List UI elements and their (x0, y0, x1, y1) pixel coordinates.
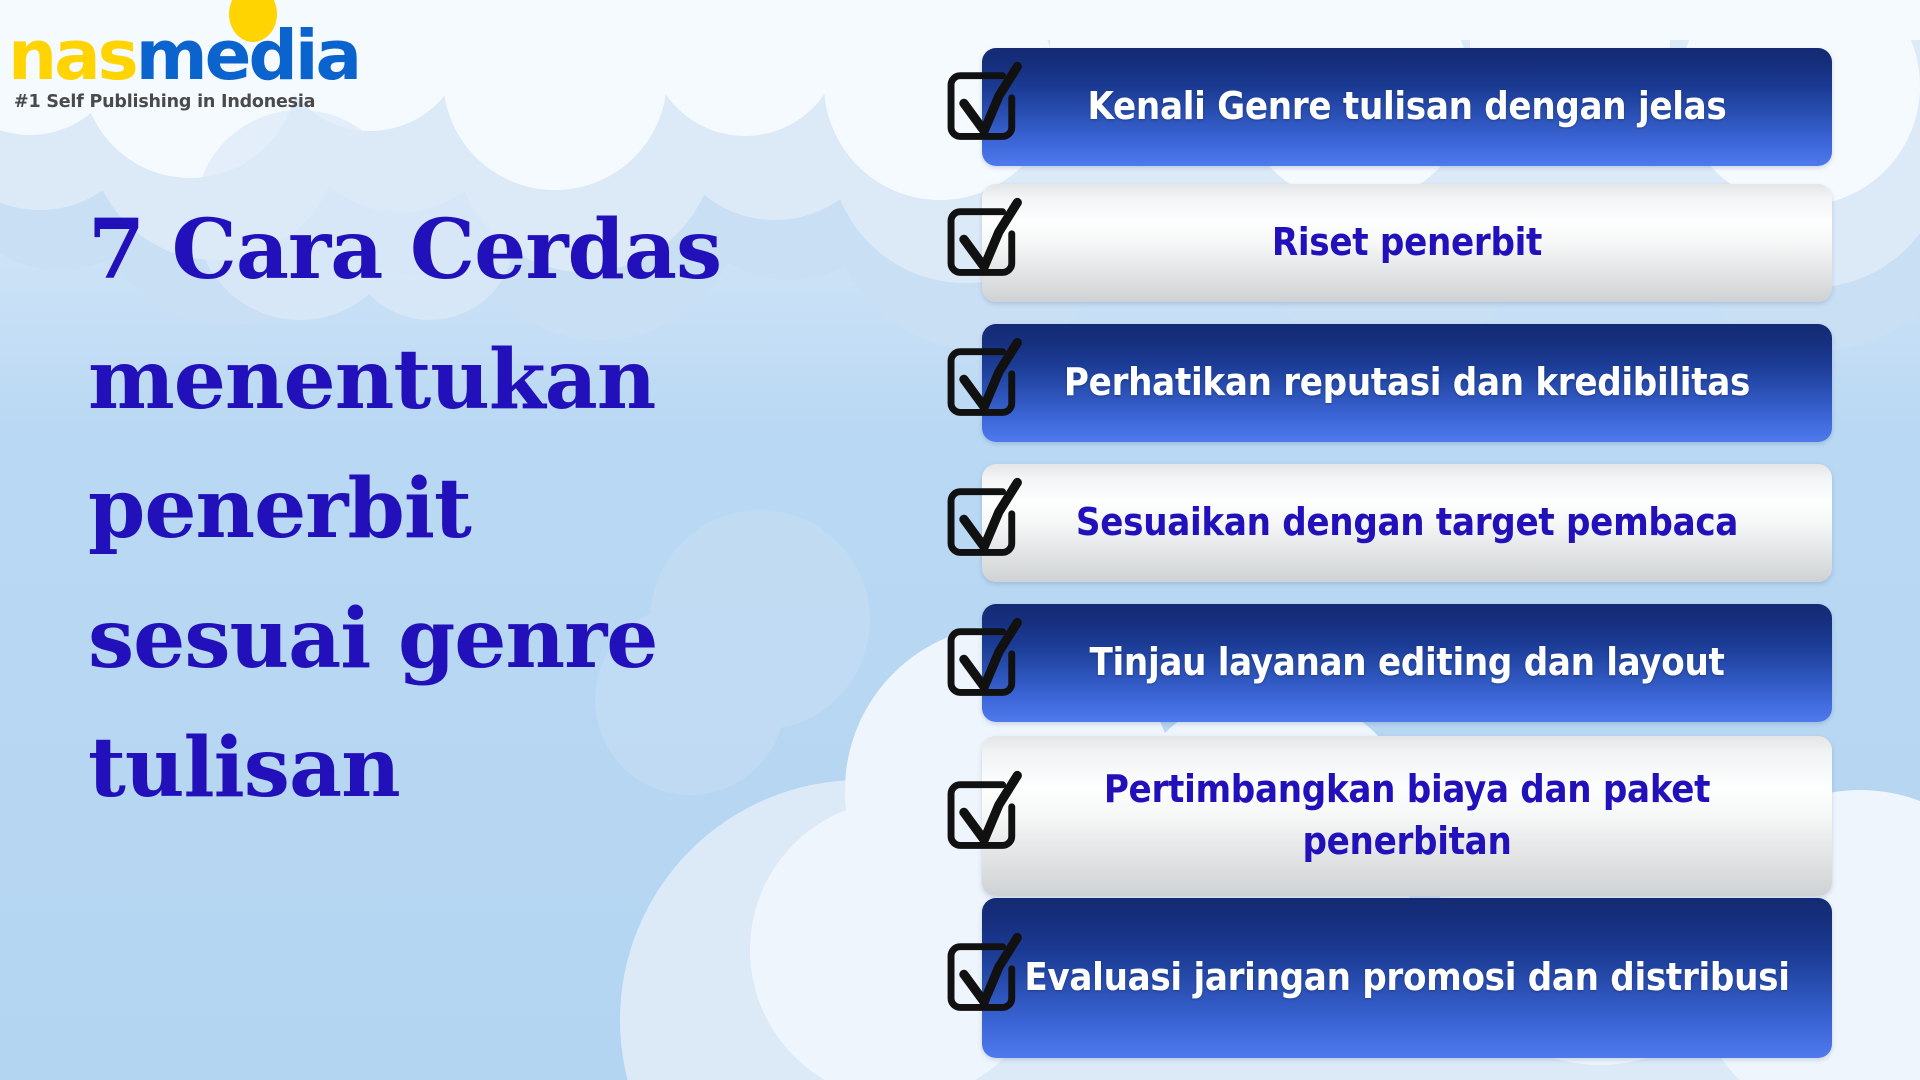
checklist-item-bar[interactable]: Riset penerbit (982, 184, 1832, 302)
checklist-item[interactable]: Perhatikan reputasi dan kredibilitas (940, 324, 1840, 442)
checklist-item[interactable]: Riset penerbit (940, 184, 1840, 302)
infographic-poster: nasmedia #1 Self Publishing in Indonesia… (0, 0, 1920, 1080)
headline-line-2: menentukan (88, 316, 738, 446)
checklist-item-label: Riset penerbit (1272, 217, 1542, 269)
logo-wordmark: nasmedia (8, 22, 308, 91)
checklist-item-bar[interactable]: Kenali Genre tulisan dengan jelas (982, 48, 1832, 166)
checklist-item-bar[interactable]: Sesuaikan dengan target pembaca (982, 464, 1832, 582)
checklist-item-label: Pertimbangkan biaya dan paket penerbitan (998, 764, 1816, 867)
checklist-item[interactable]: Tinjau layanan editing dan layout (940, 604, 1840, 722)
checklist-item[interactable]: Kenali Genre tulisan dengan jelas (940, 48, 1840, 166)
logo-text-nas: nas (8, 16, 136, 96)
headline-line-3: penerbit (88, 445, 738, 575)
checklist-item-bar[interactable]: Evaluasi jaringan promosi dan distribusi (982, 898, 1832, 1058)
checklist-item[interactable]: Pertimbangkan biaya dan paket penerbitan (940, 736, 1840, 896)
headline-line-5: tulisan (88, 704, 738, 834)
checklist-item-bar[interactable]: Tinjau layanan editing dan layout (982, 604, 1832, 722)
checklist-item-label: Perhatikan reputasi dan kredibilitas (1064, 357, 1750, 409)
checklist-item-label: Sesuaikan dengan target pembaca (1076, 497, 1738, 549)
checklist-item-label: Tinjau layanan editing dan layout (1089, 637, 1724, 689)
headline-line-1: 7 Cara Cerdas (88, 186, 738, 316)
brand-logo[interactable]: nasmedia #1 Self Publishing in Indonesia (8, 22, 308, 112)
checklist-item-bar[interactable]: Perhatikan reputasi dan kredibilitas (982, 324, 1832, 442)
page-title: 7 Cara Cerdas menentukan penerbit sesuai… (88, 186, 738, 834)
headline-line-4: sesuai genre (88, 575, 738, 705)
checklist-item-label: Evaluasi jaringan promosi dan distribusi (1024, 952, 1789, 1004)
checklist: Kenali Genre tulisan dengan jelas Riset … (940, 0, 1840, 1080)
checklist-item[interactable]: Evaluasi jaringan promosi dan distribusi (940, 898, 1840, 1058)
checklist-item[interactable]: Sesuaikan dengan target pembaca (940, 464, 1840, 582)
checklist-item-label: Kenali Genre tulisan dengan jelas (1088, 81, 1727, 133)
checklist-item-bar[interactable]: Pertimbangkan biaya dan paket penerbitan (982, 736, 1832, 896)
